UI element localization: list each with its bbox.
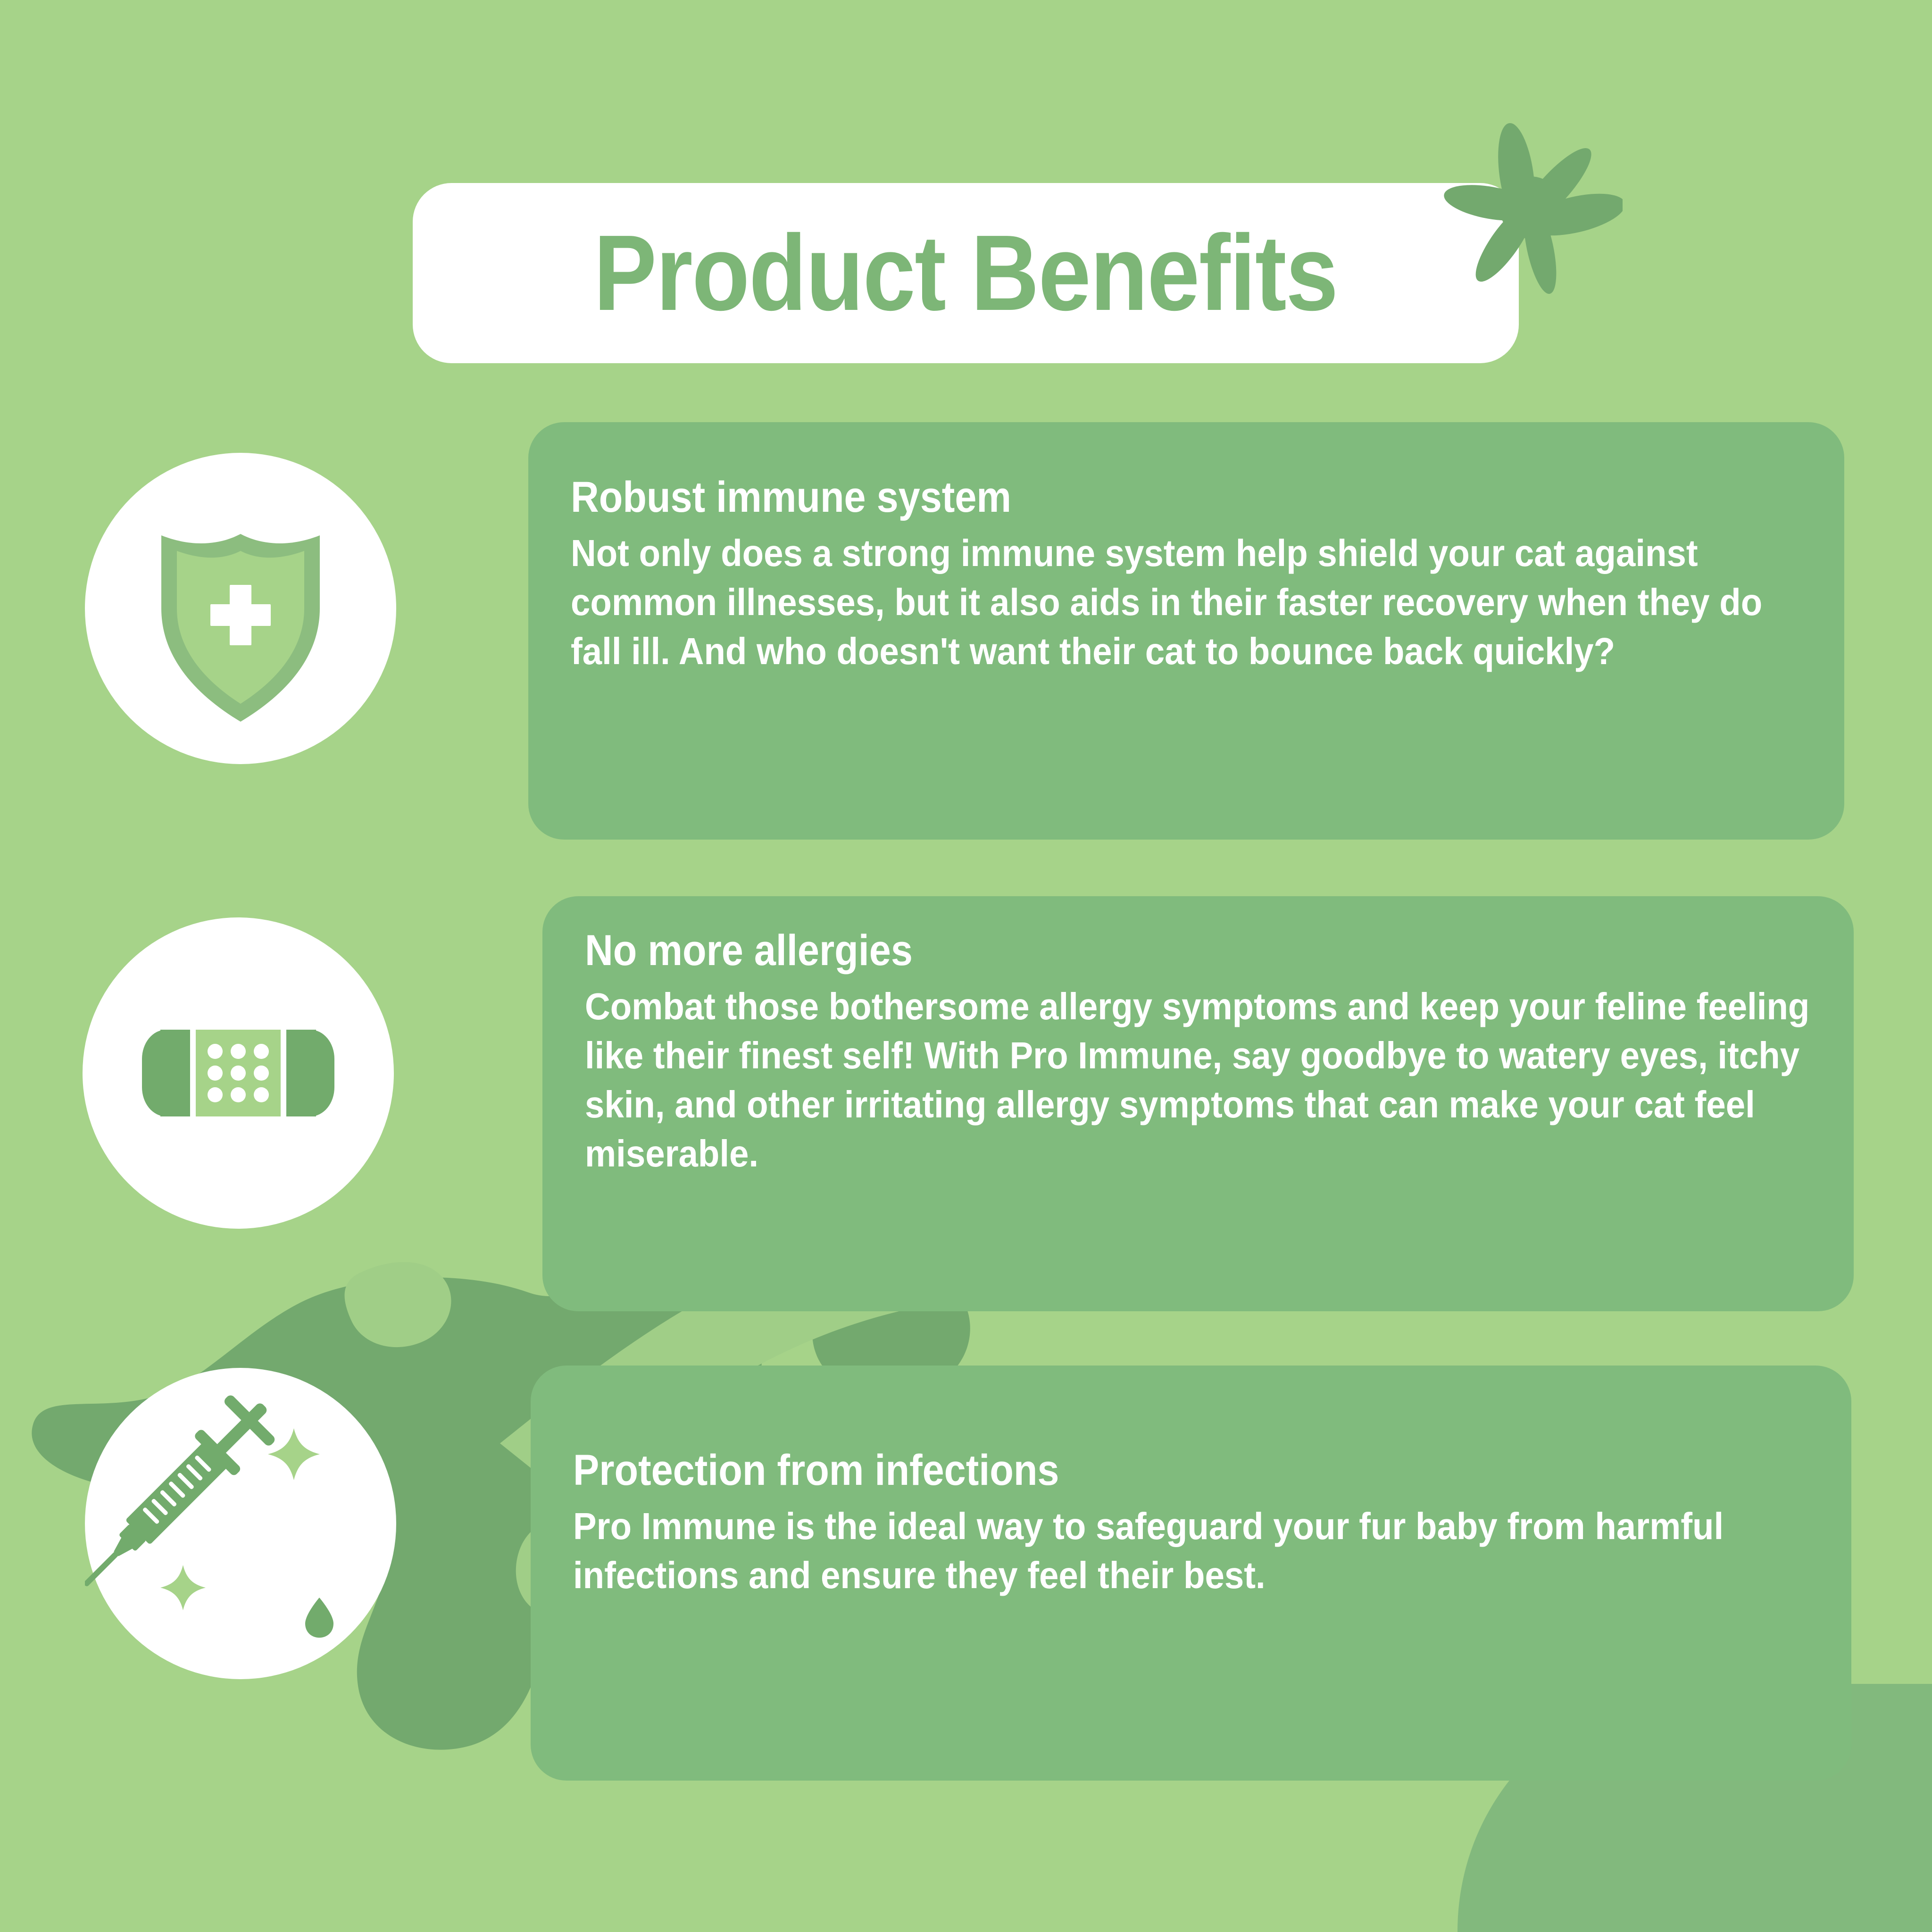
benefit-icon-circle-allergies — [83, 917, 394, 1229]
benefit-icon-circle-infections — [85, 1368, 396, 1679]
benefit-card-infections: Protection from infections Pro Immune is… — [531, 1366, 1851, 1781]
benefit-heading: Protection from infections — [573, 1448, 1685, 1493]
syringe-icon — [85, 1368, 396, 1679]
benefit-heading: No more allergies — [585, 928, 1689, 974]
benefit-body: Combat those bothersome allergy symptoms… — [585, 982, 1811, 1178]
benefit-body: Not only does a strong immune system hel… — [571, 529, 1801, 676]
flower-star-icon — [1434, 118, 1623, 307]
benefit-card-immune-system: Robust immune system Not only does a str… — [528, 422, 1844, 840]
benefit-card-allergies: No more allergies Combat those bothersom… — [542, 896, 1854, 1311]
page-title-card: Product Benefits — [413, 183, 1519, 363]
benefit-heading: Robust immune system — [571, 475, 1679, 520]
page-title: Product Benefits — [594, 219, 1338, 327]
shield-plus-icon — [85, 453, 396, 764]
benefit-icon-circle-immune-system — [85, 453, 396, 764]
infographic-canvas: Product Benefits Robust immune system No… — [0, 0, 1932, 1932]
bandage-icon — [83, 917, 394, 1229]
benefit-body: Pro Immune is the ideal way to safeguard… — [573, 1502, 1808, 1600]
sparkle-icon — [160, 1565, 206, 1610]
sparkle-icon — [268, 1428, 320, 1480]
